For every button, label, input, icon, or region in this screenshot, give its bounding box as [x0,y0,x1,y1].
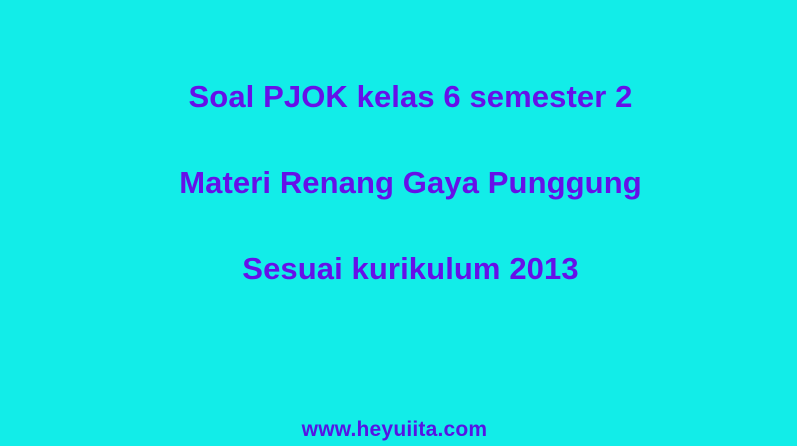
headline-line-2: Materi Renang Gaya Punggung [24,140,797,226]
headline-line-1: Soal PJOK kelas 6 semester 2 [24,54,797,140]
poster-canvas: Soal PJOK kelas 6 semester 2 Materi Rena… [0,0,797,446]
footer-area: www.heyuiita.com [0,418,797,442]
headline-group: Soal PJOK kelas 6 semester 2 Materi Rena… [0,54,797,312]
headline-line-3: Sesuai kurikulum 2013 [24,226,797,312]
website-url-watermark: www.heyuiita.com [302,418,488,442]
